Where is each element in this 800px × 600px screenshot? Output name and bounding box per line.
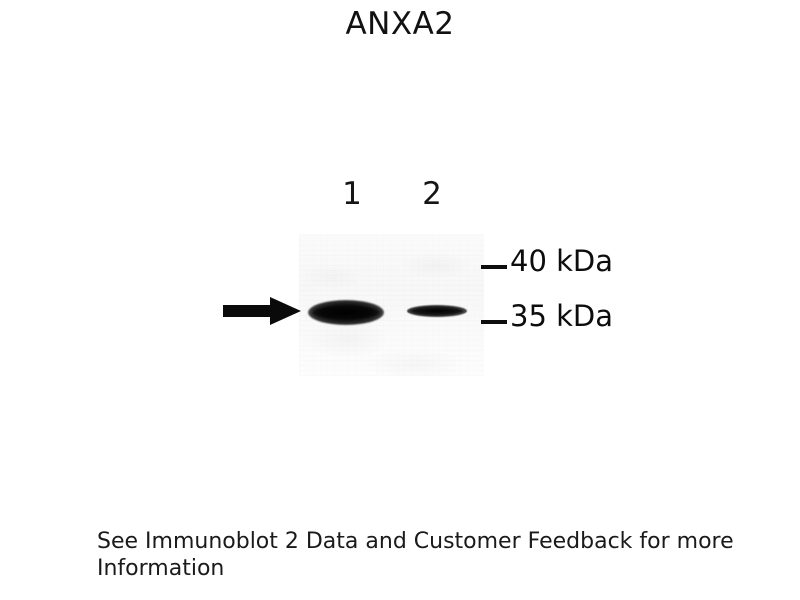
- band-lane-2-core: [411, 308, 463, 314]
- lane-label-1: 1: [332, 176, 372, 212]
- arrow-right-icon: [222, 296, 302, 326]
- figure-caption: See Immunoblot 2 Data and Customer Feedb…: [97, 528, 737, 582]
- mw-label-35kda: 35 kDa: [510, 299, 613, 333]
- band-lane-1-core: [313, 305, 379, 320]
- mw-tick-icon-35kda: [481, 320, 507, 324]
- mw-tick-icon-40kda: [481, 265, 507, 269]
- mw-marker-40kda: 40 kDa: [481, 244, 613, 278]
- mw-label-40kda: 40 kDa: [510, 244, 613, 278]
- blot-membrane: [299, 234, 484, 376]
- mw-marker-35kda: 35 kDa: [481, 299, 613, 333]
- page-title: ANXA2: [0, 6, 800, 42]
- lane-label-2: 2: [412, 176, 452, 212]
